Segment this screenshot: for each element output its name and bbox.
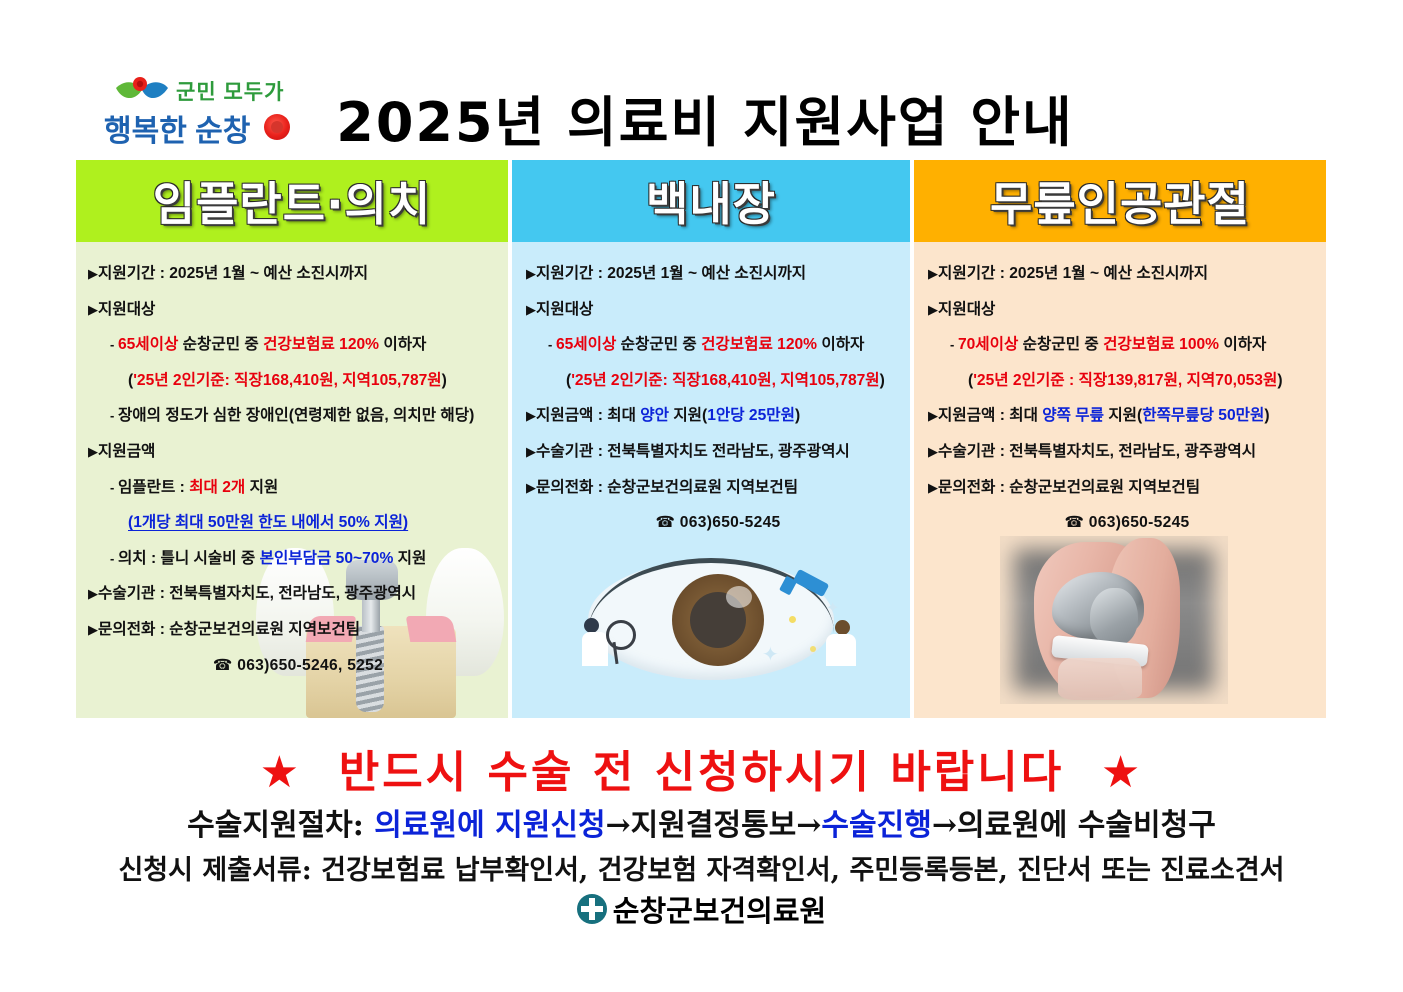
phone-number: ☎ 063)650-5246, 5252: [88, 658, 508, 674]
star-left-icon: ★: [260, 747, 302, 798]
triangle-bullet-icon: ▶: [526, 408, 536, 423]
triangle-bullet-icon: ▶: [928, 302, 938, 317]
info-line: ▶지원대상: [526, 302, 910, 318]
dash-bullet-icon: -: [110, 551, 118, 566]
info-text: 장애의 정도가 심한 장애인(연령제한 없음, 의치만 해당): [118, 407, 474, 424]
footer-org-name: 순창군보건의료원: [613, 888, 826, 930]
column-header-implant: 임플란트·의치: [76, 160, 508, 242]
info-text: 양안: [640, 407, 669, 424]
info-text: 문의전화 : 순창군보건의료원 지역보건팀: [98, 621, 360, 638]
leaf-sun-logo-icon: [114, 76, 170, 106]
star-right-icon: ★: [1101, 747, 1143, 798]
info-text: 양쪽 무릎: [1042, 407, 1104, 424]
info-line: ('25년 2인기준 : 직장139,817원, 지역70,053원): [928, 373, 1326, 389]
info-text: 지원대상: [938, 301, 995, 318]
info-text: 건강보험료 100%: [1103, 336, 1219, 353]
triangle-bullet-icon: ▶: [928, 266, 938, 281]
info-text: 지원기간 : 2025년 1월 ~ 예산 소진시까지: [536, 265, 806, 282]
info-text: 최대 2개: [189, 479, 245, 496]
triangle-bullet-icon: ▶: [88, 622, 98, 637]
triangle-bullet-icon: ▶: [526, 444, 536, 459]
info-text: 의치 : 틀니 시술비 중: [118, 550, 260, 567]
info-line: ▶수술기관 : 전북특별자치도 전라남도, 광주광역시: [526, 444, 910, 460]
poster-root: 군민 모두가 행복한 순창 2025년 의료비 지원사업 안내 임플란트·의치 …: [0, 0, 1403, 992]
info-line: ▶수술기관 : 전북특별자치도, 전라남도, 광주광역시: [928, 444, 1326, 460]
info-text: 본인부담금 50~70%: [260, 550, 394, 567]
info-line: ▶문의전화 : 순창군보건의료원 지역보건팀: [928, 480, 1326, 496]
info-line: ▶지원기간 : 2025년 1월 ~ 예산 소진시까지: [928, 266, 1326, 282]
info-text: 지원기간 : 2025년 1월 ~ 예산 소진시까지: [98, 265, 368, 282]
dash-bullet-icon: -: [950, 337, 958, 352]
info-text: 이하자: [817, 336, 864, 353]
dash-bullet-icon: -: [110, 337, 118, 352]
info-text: 지원(: [669, 407, 707, 424]
triangle-bullet-icon: ▶: [928, 444, 938, 459]
info-text: 지원(: [1104, 407, 1142, 424]
info-text: 지원금액 : 최대: [536, 407, 640, 424]
logo-line-2: 행복한 순창: [104, 106, 250, 150]
notice-text: 반드시 수술 전 신청하시기 바랍니다: [302, 747, 1101, 798]
triangle-bullet-icon: ▶: [526, 302, 536, 317]
info-text: 지원: [245, 479, 278, 496]
info-text: 지원대상: [536, 301, 593, 318]
info-text: 순창군민 중: [1018, 336, 1103, 353]
info-text: 임플란트 :: [118, 479, 189, 496]
required-documents-line: 신청시 제출서류: 건강보험료 납부확인서, 건강보험 자격확인서, 주민등록등…: [0, 848, 1403, 887]
info-line: ▶지원대상: [928, 302, 1326, 318]
column-cataract: 백내장 ▶지원기간 : 2025년 1월 ~ 예산 소진시까지▶지원대상- 65…: [512, 160, 910, 718]
info-line: ▶지원기간 : 2025년 1월 ~ 예산 소진시까지: [526, 266, 910, 282]
info-text: 이하자: [379, 336, 426, 353]
info-text: 한쪽무릎당 50만원: [1142, 407, 1264, 424]
column-knee: 무릎인공관절 ▶지원기간 : 2025년 1월 ~ 예산 소진시까지▶지원대상-…: [914, 160, 1326, 718]
info-text: 건강보험료 120%: [263, 336, 379, 353]
info-text: 지원: [393, 550, 426, 567]
column-body-cataract: ▶지원기간 : 2025년 1월 ~ 예산 소진시까지▶지원대상- 65세이상 …: [512, 242, 910, 718]
column-lines-cataract: ▶지원기간 : 2025년 1월 ~ 예산 소진시까지▶지원대상- 65세이상 …: [512, 242, 910, 531]
info-text: 70세이상: [958, 336, 1018, 353]
info-text: 1안당 25만원: [707, 407, 795, 424]
info-text: 65세이상: [118, 336, 178, 353]
info-line: ▶지원금액: [88, 444, 508, 460]
notice-apply-before-surgery: ★ 반드시 수술 전 신청하시기 바랍니다 ★: [0, 736, 1403, 800]
info-line: - 장애의 정도가 심한 장애인(연령제한 없음, 의치만 해당): [88, 408, 508, 424]
sunchang-county-logo: 군민 모두가 행복한 순창: [104, 74, 290, 154]
info-text: ): [880, 372, 885, 389]
column-body-implant: ▶지원기간 : 2025년 1월 ~ 예산 소진시까지▶지원대상- 65세이상 …: [76, 242, 508, 718]
info-text: 건강보험료 120%: [701, 336, 817, 353]
column-lines-knee: ▶지원기간 : 2025년 1월 ~ 예산 소진시까지▶지원대상- 70세이상 …: [914, 242, 1326, 531]
info-text: 수술기관 : 전북특별자치도, 전라남도, 광주광역시: [98, 585, 416, 602]
phone-number: ☎ 063)650-5245: [526, 515, 910, 531]
info-line: - 의치 : 틀니 시술비 중 본인부담금 50~70% 지원: [88, 551, 508, 567]
column-implant: 임플란트·의치 ▶지원기간 : 2025년 1월 ~ 예산 소진시까지▶지원대상…: [76, 160, 508, 718]
info-text: 지원기간 : 2025년 1월 ~ 예산 소진시까지: [938, 265, 1208, 282]
procedure-step: →지원결정통보→: [606, 808, 822, 843]
info-line: - 65세이상 순창군민 중 건강보험료 120% 이하자: [88, 337, 508, 353]
info-line: ▶지원금액 : 최대 양안 지원(1안당 25만원): [526, 408, 910, 424]
info-text: 수술기관 : 전북특별자치도, 전라남도, 광주광역시: [938, 443, 1256, 460]
triangle-bullet-icon: ▶: [88, 266, 98, 281]
info-text: 이하자: [1219, 336, 1266, 353]
info-line: ▶문의전화 : 순창군보건의료원 지역보건팀: [88, 622, 508, 638]
procedure-step: →의료원에 수술비청구: [932, 808, 1216, 843]
info-text: ): [1264, 407, 1269, 424]
info-text: 수술기관 : 전북특별자치도 전라남도, 광주광역시: [536, 443, 850, 460]
info-text: 지원금액: [98, 443, 155, 460]
logo-line-1: 군민 모두가: [176, 76, 284, 106]
info-line: ▶지원기간 : 2025년 1월 ~ 예산 소진시까지: [88, 266, 508, 282]
dash-bullet-icon: -: [110, 480, 118, 495]
info-text: (1개당 최대 50만원 한도 내에서 50% 지원): [128, 514, 408, 531]
info-text: 문의전화 : 순창군보건의료원 지역보건팀: [536, 479, 798, 496]
info-text: 순창군민 중: [178, 336, 263, 353]
info-line: (1개당 최대 50만원 한도 내에서 50% 지원): [88, 515, 508, 531]
info-text: 순창군민 중: [616, 336, 701, 353]
info-text: 지원금액 : 최대: [938, 407, 1042, 424]
health-center-cross-icon: [577, 894, 607, 924]
triangle-bullet-icon: ▶: [88, 444, 98, 459]
phone-number: ☎ 063)650-5245: [928, 515, 1326, 531]
info-line: ▶수술기관 : 전북특별자치도, 전라남도, 광주광역시: [88, 586, 508, 602]
knee-prosthesis-image: [1000, 536, 1228, 704]
info-line: ▶문의전화 : 순창군보건의료원 지역보건팀: [526, 480, 910, 496]
info-text: ): [795, 407, 800, 424]
dash-bullet-icon: -: [110, 408, 118, 423]
info-line: - 70세이상 순창군민 중 건강보험료 100% 이하자: [928, 337, 1326, 353]
logo-red-sun-icon: [264, 114, 290, 140]
page-title: 2025년 의료비 지원사업 안내: [320, 82, 1090, 152]
column-header-knee: 무릎인공관절: [914, 160, 1326, 242]
info-line: ▶지원금액 : 최대 양쪽 무릎 지원(한쪽무릎당 50만원): [928, 408, 1326, 424]
info-text: 지원대상: [98, 301, 155, 318]
procedure-label: 수술지원절차:: [187, 808, 374, 843]
info-line: ▶지원대상: [88, 302, 508, 318]
info-text: 문의전화 : 순창군보건의료원 지역보건팀: [938, 479, 1200, 496]
info-line: - 임플란트 : 최대 2개 지원: [88, 480, 508, 496]
triangle-bullet-icon: ▶: [928, 480, 938, 495]
triangle-bullet-icon: ▶: [88, 586, 98, 601]
triangle-bullet-icon: ▶: [88, 302, 98, 317]
triangle-bullet-icon: ▶: [526, 266, 536, 281]
column-header-cataract: 백내장: [512, 160, 910, 242]
eye-image: [554, 550, 868, 700]
info-text: '25년 2인기준: 직장168,410원, 지역105,787원: [133, 372, 441, 389]
info-text: ): [1277, 372, 1282, 389]
info-line: ('25년 2인기준: 직장168,410원, 지역105,787원): [526, 373, 910, 389]
dash-bullet-icon: -: [548, 337, 556, 352]
column-body-knee: ▶지원기간 : 2025년 1월 ~ 예산 소진시까지▶지원대상- 70세이상 …: [914, 242, 1326, 718]
info-line: ('25년 2인기준: 직장168,410원, 지역105,787원): [88, 373, 508, 389]
info-line: - 65세이상 순창군민 중 건강보험료 120% 이하자: [526, 337, 910, 353]
procedure-line: 수술지원절차: 의료원에 지원신청→지원결정통보→수술진행→의료원에 수술비청구: [0, 800, 1403, 844]
footer: 순창군보건의료원: [0, 888, 1403, 930]
triangle-bullet-icon: ▶: [526, 480, 536, 495]
info-text: 65세이상: [556, 336, 616, 353]
info-text: '25년 2인기준: 직장168,410원, 지역105,787원: [571, 372, 879, 389]
procedure-step: 의료원에 지원신청: [374, 808, 605, 843]
triangle-bullet-icon: ▶: [928, 408, 938, 423]
info-text: '25년 2인기준 : 직장139,817원, 지역70,053원: [973, 372, 1277, 389]
column-lines-implant: ▶지원기간 : 2025년 1월 ~ 예산 소진시까지▶지원대상- 65세이상 …: [76, 242, 508, 673]
procedure-step: 수술진행: [821, 808, 931, 843]
info-text: ): [442, 372, 447, 389]
